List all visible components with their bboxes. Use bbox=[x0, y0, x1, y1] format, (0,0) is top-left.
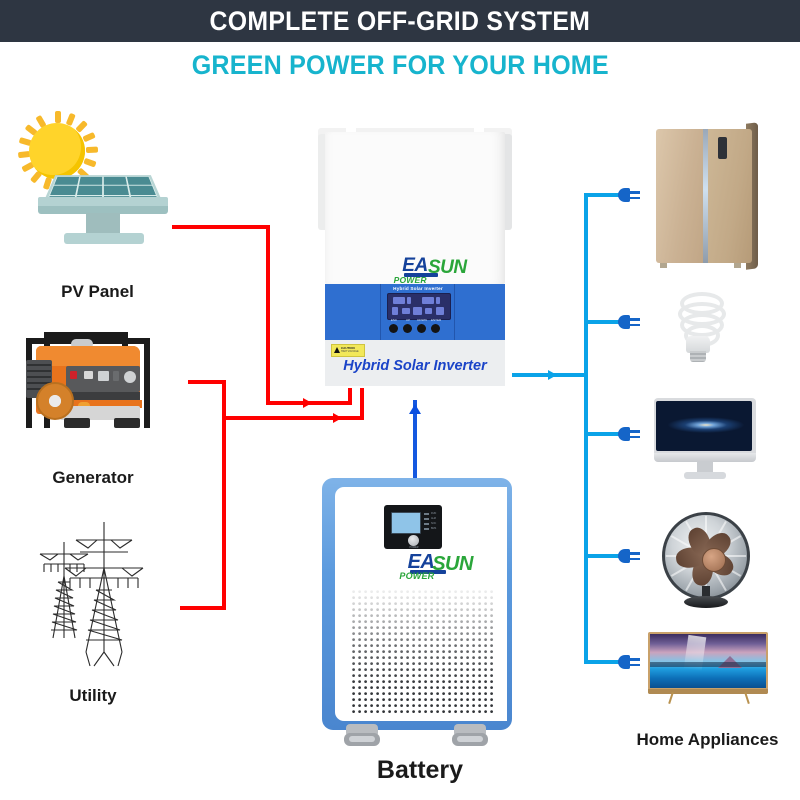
page-subtitle: GREEN POWER FOR YOUR HOME bbox=[191, 50, 608, 81]
inverter-button-esc[interactable] bbox=[389, 324, 398, 333]
plug-icon-tv bbox=[618, 652, 640, 672]
inverter-button-enter[interactable] bbox=[431, 324, 440, 333]
arrow-battery-to-inverter bbox=[409, 404, 421, 414]
wire-branch-bulb bbox=[584, 320, 620, 324]
refrigerator-icon bbox=[650, 123, 758, 269]
battery-power-button-label: POWER bbox=[400, 546, 428, 549]
header-subtitle-bar: GREEN POWER FOR YOUR HOME bbox=[0, 46, 800, 84]
inverter-brand-logo: EASUN POWER bbox=[325, 256, 505, 276]
inverter-lcd-screen bbox=[387, 293, 451, 320]
transmission-tower-icon bbox=[20, 520, 170, 670]
battery-led-soc: SOC bbox=[431, 522, 436, 525]
recoil-starter-icon bbox=[36, 382, 74, 420]
wire-utility-horizontal bbox=[180, 606, 226, 610]
logo-power-text: POWER bbox=[394, 276, 427, 285]
inverter-display-caption: Hybrid Solar Inverter bbox=[382, 286, 454, 291]
battery-led-run: RUN bbox=[431, 512, 436, 515]
wire-branch-monitor bbox=[584, 432, 620, 436]
caution-sublabel: HIGH VOLTAGE bbox=[341, 350, 359, 353]
battery-foot-right bbox=[452, 724, 488, 750]
battery-logo-power-text: POWER bbox=[399, 572, 434, 581]
plug-icon-fan bbox=[618, 546, 640, 566]
pv-panel-label: PV Panel bbox=[30, 282, 165, 302]
caution-label: CAUTION bbox=[341, 346, 355, 350]
plug-icon-bulb bbox=[618, 312, 640, 332]
button-label-up: UP bbox=[403, 318, 413, 322]
wire-gen-horizontal bbox=[188, 380, 226, 384]
plug-icon-monitor bbox=[618, 424, 640, 444]
caution-sticker: CAUTION HIGH VOLTAGE bbox=[331, 344, 365, 357]
arrow-gen bbox=[333, 413, 342, 423]
utility-towers-illustration bbox=[20, 520, 170, 670]
output-bus-vertical bbox=[584, 193, 588, 663]
button-label-esc: ESC bbox=[389, 318, 399, 322]
utility-label: Utility bbox=[18, 686, 168, 706]
battery-led-bms: BMS bbox=[431, 527, 436, 530]
generator-power-switch bbox=[70, 371, 77, 379]
generator-illustration bbox=[18, 330, 168, 445]
pv-panel-illustration bbox=[12, 112, 172, 277]
inverter-button-down[interactable] bbox=[417, 324, 426, 333]
generator-label: Generator bbox=[18, 468, 168, 488]
wire-branch-refrigerator bbox=[584, 193, 620, 197]
battery-unit: RUN ALM SOC BMS POWER EASUN POWER bbox=[322, 478, 512, 748]
battery-power-button[interactable] bbox=[408, 535, 419, 546]
wire-utility-vertical bbox=[222, 416, 226, 610]
inverter-product-label: Hybrid Solar Inverter bbox=[325, 358, 505, 374]
battery-label: Battery bbox=[330, 756, 510, 785]
hybrid-solar-inverter: EASUN POWER Hybrid Solar Inverter ESC UP… bbox=[318, 128, 512, 390]
button-label-down: DOWN bbox=[417, 318, 427, 322]
wire-gen-vertical bbox=[222, 380, 226, 420]
wire-pv-vertical bbox=[266, 225, 270, 405]
solar-module-icon bbox=[34, 144, 172, 249]
button-label-enter: ENTER bbox=[431, 318, 441, 322]
battery-foot-left bbox=[344, 724, 380, 750]
fan-icon bbox=[658, 512, 754, 608]
inverter-button-up[interactable] bbox=[403, 324, 412, 333]
diagram-canvas: COMPLETE OFF-GRID SYSTEM GREEN POWER FOR… bbox=[0, 0, 800, 800]
battery-control-module: RUN ALM SOC BMS POWER bbox=[384, 505, 442, 549]
battery-led-alm: ALM bbox=[431, 517, 436, 520]
wire-branch-tv bbox=[584, 660, 620, 664]
home-appliances-label: Home Appliances bbox=[620, 730, 795, 750]
television-icon bbox=[648, 632, 768, 708]
arrow-pv bbox=[303, 398, 312, 408]
header-bar: COMPLETE OFF-GRID SYSTEM bbox=[0, 0, 800, 42]
battery-brand-logo: EASUN POWER bbox=[335, 552, 507, 573]
battery-lcd-screen bbox=[391, 512, 421, 534]
battery-ventilation-pattern bbox=[352, 590, 494, 714]
light-bulb-icon bbox=[672, 292, 724, 362]
plug-icon-refrigerator bbox=[618, 185, 640, 205]
monitor-icon bbox=[652, 398, 758, 484]
wire-pv-horizontal bbox=[172, 225, 270, 229]
page-title: COMPLETE OFF-GRID SYSTEM bbox=[210, 6, 591, 37]
wire-branch-fan bbox=[584, 554, 620, 558]
arrow-output bbox=[548, 370, 557, 380]
wire-gen-riser bbox=[360, 388, 364, 420]
wire-pv-riser bbox=[348, 388, 352, 405]
